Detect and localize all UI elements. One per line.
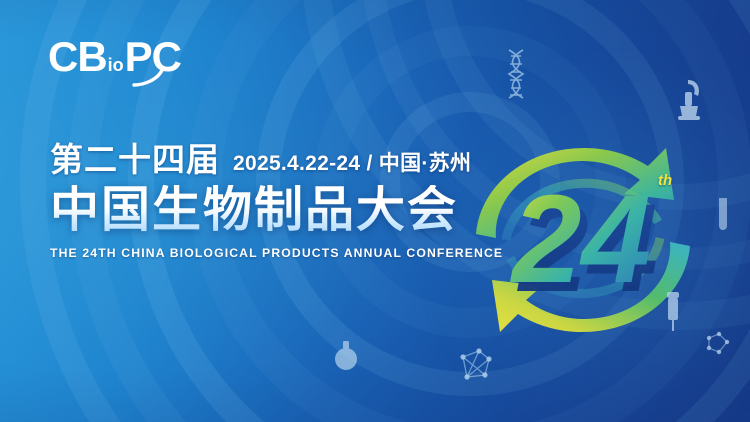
logo-text-io: io (108, 56, 124, 74)
date-location: 2025.4.22-24 / 中国·苏州 (233, 153, 471, 176)
emblem-superscript: th (658, 172, 672, 189)
emblem-number-face: 24 (510, 170, 651, 309)
subtitle-english: THE 24TH CHINA BIOLOGICAL PRODUCTS ANNUA… (50, 246, 520, 260)
page-title: 中国生物制品大会 (50, 185, 520, 236)
anniversary-emblem: 24 24 th (452, 122, 714, 358)
headline-first-line: 第二十四届 2025.4.22-24 / 中国·苏州 (50, 140, 520, 176)
logo-text-cb: CB (48, 36, 107, 78)
headline-block: 第二十四届 2025.4.22-24 / 中国·苏州 中国生物制品大会 THE … (50, 140, 520, 260)
cbiopc-logo: CB io PC (48, 36, 181, 82)
conference-banner: CB io PC 第二十四届 2025.4.22-24 / 中国·苏州 中国生物… (0, 0, 750, 422)
swoosh-icon (132, 66, 166, 88)
edition-ordinal: 第二十四届 (50, 143, 220, 176)
